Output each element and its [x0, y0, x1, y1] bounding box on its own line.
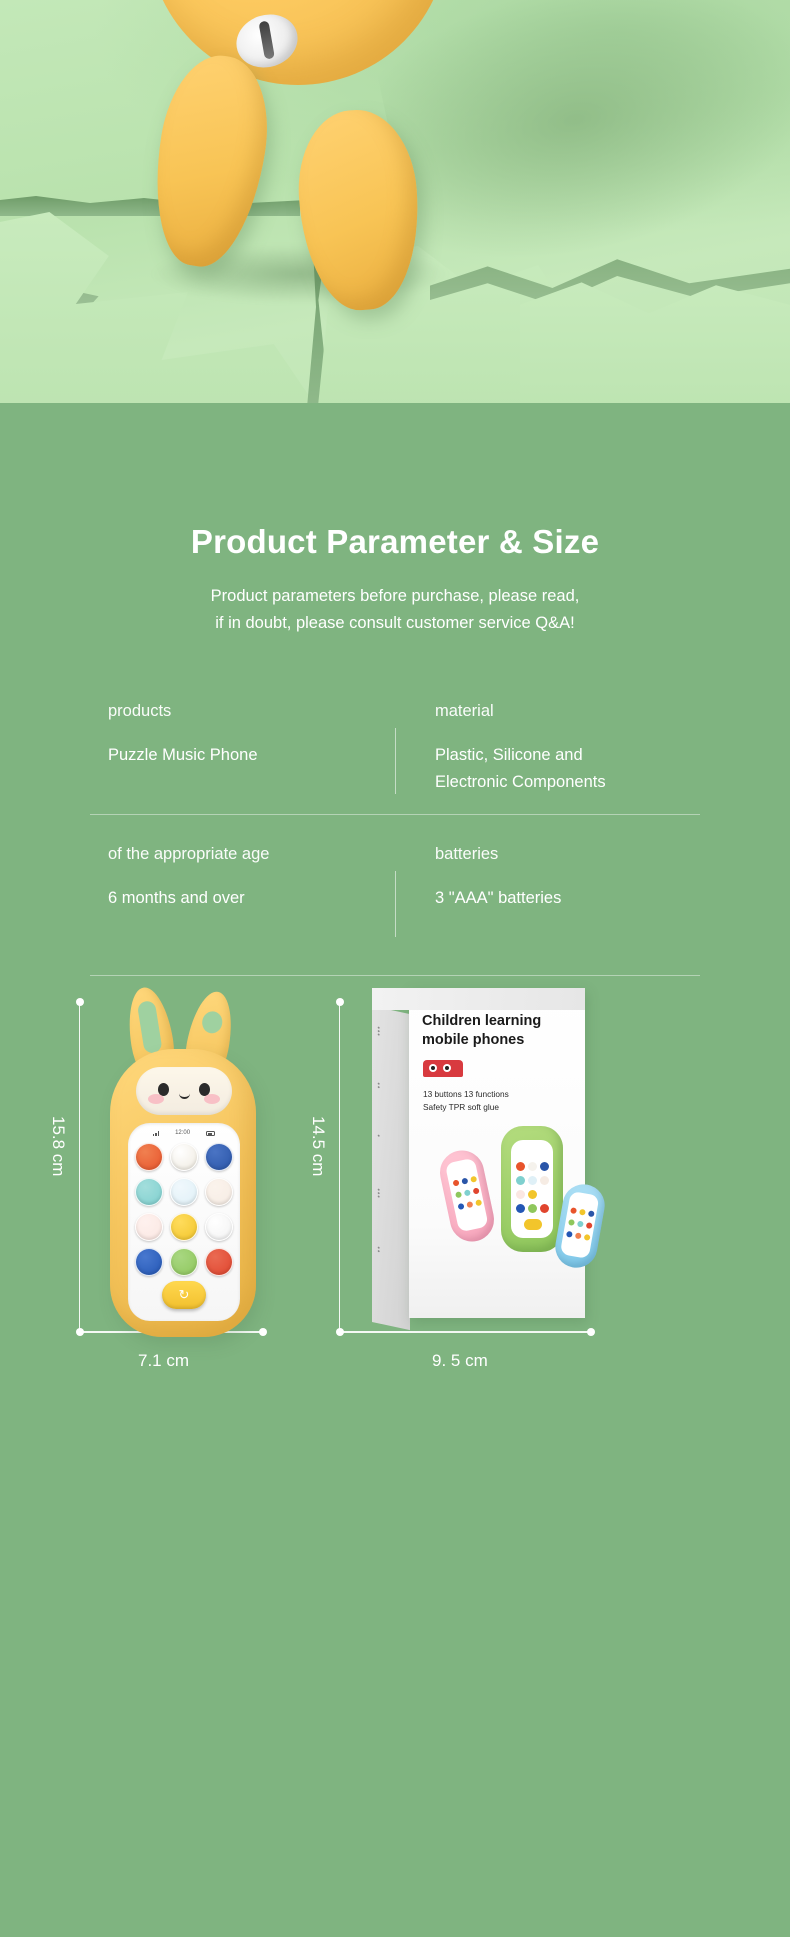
package-phone-blue-keys: [560, 1191, 600, 1259]
spec-row: products Puzzle Music Phone material Pla…: [90, 702, 700, 806]
package-illustration: ••• •• • ••• •• Children learning mobile…: [372, 988, 586, 1336]
spec-value: 6 months and over: [108, 885, 395, 912]
package-side-text: ••: [376, 1081, 383, 1089]
package-height-dot-top: [336, 998, 344, 1006]
rabbit-ear-inner-right: [200, 1010, 224, 1035]
package-phone-green: [501, 1126, 563, 1252]
spec-section: Product Parameter & Size Product paramet…: [0, 403, 790, 1506]
signal-icon: [153, 1130, 159, 1136]
package-side-text: •••: [376, 1187, 383, 1199]
phone-key[interactable]: [135, 1213, 163, 1241]
rabbit-body: 12:00: [110, 1049, 256, 1337]
product-height-dot-top: [76, 998, 84, 1006]
package-side-text: •••: [376, 1025, 383, 1037]
phone-key[interactable]: [135, 1248, 163, 1276]
package-feature-line-2: Safety TPR soft glue: [423, 1101, 575, 1113]
package-title: Children learning mobile phones: [422, 1012, 572, 1049]
spec-value: Plastic, Silicone and Electronic Compone…: [435, 742, 700, 795]
phone-key[interactable]: [170, 1213, 198, 1241]
spec-cell-batteries: batteries 3 "AAA" batteries: [395, 845, 700, 949]
phone-key[interactable]: [205, 1213, 233, 1241]
status-time: 12:00: [175, 1130, 190, 1136]
package-phone-green-screen: [511, 1140, 553, 1238]
phone-key[interactable]: [135, 1143, 163, 1171]
package-phone-green-keys: [511, 1140, 553, 1238]
package-height-label: 14.5 cm: [308, 1116, 328, 1176]
spec-cell-material: material Plastic, Silicone and Electroni…: [395, 702, 700, 806]
phone-key[interactable]: [170, 1143, 198, 1171]
spec-key: batteries: [435, 845, 700, 864]
phone-status-bar: 12:00: [128, 1130, 240, 1136]
spec-value: Puzzle Music Phone: [108, 742, 395, 769]
package-top-panel: [372, 988, 585, 1010]
brand-logo-icon: [423, 1060, 463, 1077]
subtitle-line-2: if in doubt, please consult customer ser…: [0, 610, 790, 637]
package-title-line-1: Children learning: [422, 1012, 572, 1030]
spec-horizontal-divider-bottom: [90, 975, 700, 976]
phone-key[interactable]: [205, 1248, 233, 1276]
rabbit-smile: [179, 1092, 190, 1099]
page-subtitle: Product parameters before purchase, plea…: [0, 583, 790, 636]
package-height-line: [339, 1002, 340, 1332]
package-side-panel: ••• •• • ••• ••: [372, 1006, 410, 1330]
size-diagram-area: 15.8 cm 7.1 cm: [0, 986, 790, 1466]
spec-cell-age: of the appropriate age 6 months and over: [90, 845, 395, 949]
phone-key[interactable]: [205, 1178, 233, 1206]
phone-key[interactable]: [170, 1248, 198, 1276]
rabbit-cheek-right: [204, 1094, 220, 1104]
spec-value: 3 "AAA" batteries: [435, 885, 700, 912]
package-side-text: ••: [376, 1245, 383, 1253]
package-phone-blue-screen: [560, 1191, 600, 1259]
product-height-label: 15.8 cm: [48, 1116, 68, 1176]
product-detail-page: Product Parameter & Size Product paramet…: [0, 0, 790, 1506]
package-side-text: •: [376, 1133, 383, 1138]
spec-table: products Puzzle Music Phone material Pla…: [90, 702, 700, 976]
product-width-label: 7.1 cm: [138, 1351, 189, 1371]
package-width-dot-right: [587, 1328, 595, 1336]
package-features: 13 buttons 13 functions Safety TPR soft …: [423, 1088, 575, 1113]
hero-image: [0, 0, 790, 403]
phone-key[interactable]: [205, 1143, 233, 1171]
phone-keypad-panel: 12:00: [128, 1123, 240, 1321]
phone-key[interactable]: [135, 1178, 163, 1206]
rabbit-cheek-left: [148, 1094, 164, 1104]
package-phone-pink-screen: [445, 1158, 489, 1233]
rabbit-ear-inner-left: [137, 1000, 163, 1054]
spec-horizontal-divider: [90, 814, 700, 815]
package-phone-pink: [436, 1147, 498, 1246]
package-width-label: 9. 5 cm: [432, 1351, 488, 1371]
page-title: Product Parameter & Size: [0, 403, 790, 561]
phone-key[interactable]: [170, 1178, 198, 1206]
battery-icon: [206, 1131, 215, 1136]
spec-row: of the appropriate age 6 months and over…: [90, 845, 700, 949]
package-front-panel: Children learning mobile phones 13 butto…: [409, 988, 585, 1318]
phone-call-button[interactable]: ↻: [162, 1281, 206, 1309]
spec-key: products: [108, 702, 395, 721]
phone-keys: [135, 1143, 233, 1276]
package-phone-pink-keys: [445, 1158, 489, 1233]
subtitle-line-1: Product parameters before purchase, plea…: [0, 583, 790, 610]
spec-key: material: [435, 702, 700, 721]
spec-key: of the appropriate age: [108, 845, 395, 864]
package-title-line-2: mobile phones: [422, 1031, 572, 1049]
package-feature-line-1: 13 buttons 13 functions: [423, 1088, 575, 1100]
product-illustration: 12:00: [104, 987, 262, 1339]
product-height-line: [79, 1002, 80, 1332]
rabbit-face: [136, 1067, 232, 1115]
spec-cell-products: products Puzzle Music Phone: [90, 702, 395, 806]
